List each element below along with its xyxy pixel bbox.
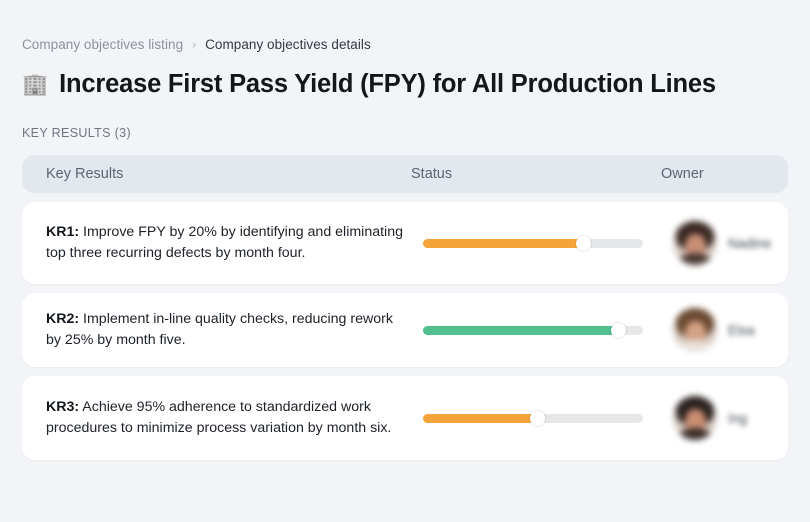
progress-knob[interactable] bbox=[611, 323, 626, 338]
key-result-code: KR3: bbox=[46, 399, 79, 415]
key-result-text: Implement in-line quality checks, reduci… bbox=[46, 311, 393, 348]
progress-fill bbox=[423, 239, 584, 248]
owner-name: Elsa bbox=[728, 323, 755, 338]
column-header-key-results: Key Results bbox=[46, 166, 411, 182]
progress-fill bbox=[423, 326, 619, 335]
progress-bar[interactable] bbox=[423, 239, 643, 248]
key-result-status bbox=[423, 239, 673, 248]
key-result-owner[interactable]: Nadine bbox=[673, 221, 788, 265]
breadcrumb-link-listing[interactable]: Company objectives listing bbox=[22, 38, 183, 52]
progress-fill bbox=[423, 414, 537, 423]
page-title-row: 🏢 Increase First Pass Yield (FPY) for Al… bbox=[22, 70, 788, 99]
key-result-text: Improve FPY by 20% by identifying and el… bbox=[46, 224, 403, 261]
breadcrumb: Company objectives listing › Company obj… bbox=[22, 0, 788, 52]
avatar bbox=[673, 221, 717, 265]
table-row[interactable]: KR1: Improve FPY by 20% by identifying a… bbox=[22, 202, 788, 284]
key-result-description: KR3: Achieve 95% adherence to standardiz… bbox=[46, 397, 423, 438]
key-result-description: KR2: Implement in-line quality checks, r… bbox=[46, 309, 423, 350]
key-results-table: Key Results Status Owner KR1: Improve FP… bbox=[22, 155, 788, 460]
office-building-icon: 🏢 bbox=[22, 74, 48, 95]
chevron-right-icon: › bbox=[192, 38, 196, 50]
objective-details-page: Company objectives listing › Company obj… bbox=[0, 0, 810, 522]
table-row[interactable]: KR2: Implement in-line quality checks, r… bbox=[22, 293, 788, 367]
breadcrumb-current-details: Company objectives details bbox=[205, 38, 371, 52]
column-header-owner: Owner bbox=[661, 166, 788, 182]
avatar bbox=[673, 396, 717, 440]
key-result-owner[interactable]: Elsa bbox=[673, 308, 788, 352]
avatar bbox=[673, 308, 717, 352]
progress-bar[interactable] bbox=[423, 326, 643, 335]
key-result-description: KR1: Improve FPY by 20% by identifying a… bbox=[46, 222, 423, 263]
progress-bar[interactable] bbox=[423, 414, 643, 423]
key-result-status bbox=[423, 326, 673, 335]
table-header-row: Key Results Status Owner bbox=[22, 155, 788, 193]
owner-name: Nadine bbox=[728, 236, 771, 251]
progress-knob[interactable] bbox=[530, 411, 545, 426]
owner-name: Ing bbox=[728, 411, 747, 426]
page-title: Increase First Pass Yield (FPY) for All … bbox=[59, 70, 716, 99]
key-result-code: KR1: bbox=[46, 224, 79, 240]
key-result-status bbox=[423, 414, 673, 423]
key-result-code: KR2: bbox=[46, 311, 79, 327]
key-result-text: Achieve 95% adherence to standardized wo… bbox=[46, 399, 391, 436]
key-result-owner[interactable]: Ing bbox=[673, 396, 788, 440]
column-header-status: Status bbox=[411, 166, 661, 182]
progress-knob[interactable] bbox=[576, 236, 591, 251]
key-results-section-label: KEY RESULTS (3) bbox=[22, 126, 788, 140]
table-row[interactable]: KR3: Achieve 95% adherence to standardiz… bbox=[22, 376, 788, 460]
